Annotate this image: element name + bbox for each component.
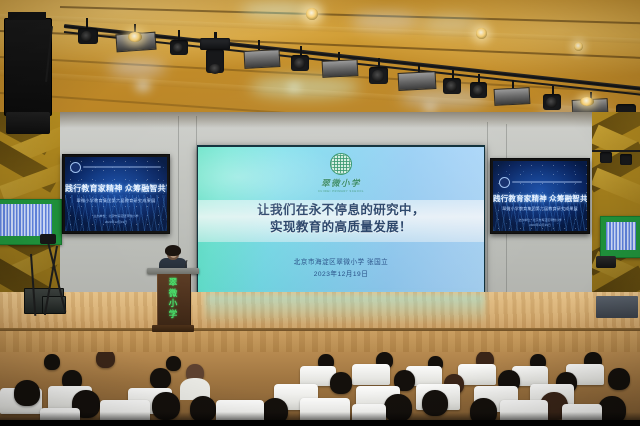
- stage-light-lens: [580, 97, 594, 106]
- slide-subtitle-line-1: 北京市海淀区翠微小学 张国立: [198, 257, 484, 269]
- ceiling-glow: [108, 60, 166, 76]
- audience-seating: [0, 352, 640, 426]
- ceiling-glow: [420, 16, 480, 32]
- wall-light-bar: [592, 150, 640, 152]
- audience-head: [330, 372, 352, 394]
- right-led-subhead: 翠微小学教育集团第六届教育研究成果展: [493, 206, 587, 212]
- slide-title-line-2: 实现教育的高质量发展！: [198, 219, 484, 236]
- audience-head: [44, 354, 60, 370]
- stage-light-barndoor: [244, 49, 281, 69]
- podium-engraved-text: 翠微小学: [151, 277, 195, 320]
- ceiling-downlight: [574, 42, 583, 51]
- ceiling-glow: [250, 76, 360, 98]
- main-projection-screen: 翠微小学 CUIWEI PRIMARY SCHOOL 让我们在永不停息的研究中，…: [197, 145, 485, 297]
- podium-base: [152, 325, 194, 332]
- stage-light-lens: [372, 70, 384, 82]
- ceiling-blue-spot: [424, 104, 436, 111]
- left-led-subhead: 翠微小学教育集团第六届教育研究成果展: [65, 198, 167, 204]
- stage-light-lens: [473, 85, 483, 96]
- hanging-speaker-box: [6, 112, 50, 134]
- audience-head: [166, 356, 181, 371]
- slide-school-logo: 翠微小学 CUIWEI PRIMARY SCHOOL: [198, 153, 484, 193]
- stage-light-lens: [546, 97, 557, 108]
- wall-light-fixture: [600, 152, 612, 163]
- left-led-content: 践行教育家精神 众筹融智共育人 翠微小学教育集团第六届教育研究成果展 主办单位：…: [65, 157, 167, 231]
- stage-light-lens: [173, 43, 183, 53]
- school-emblem-icon: [70, 162, 81, 173]
- right-acoustic-panel: [600, 216, 640, 258]
- audience-head: [96, 352, 115, 368]
- wall-panel-joint: [487, 122, 488, 296]
- stage-light-lens: [128, 32, 142, 42]
- ceiling-downlight: [306, 8, 318, 20]
- slide-logo-text: 翠微小学: [321, 177, 361, 189]
- audience-chair: [352, 364, 390, 385]
- moving-head-lens: [209, 64, 221, 74]
- audience-head: [14, 380, 40, 406]
- stage-light-lens: [294, 58, 305, 69]
- podium: 翠微小学: [151, 268, 195, 334]
- stage-light-barndoor: [398, 71, 437, 91]
- stage-light-lens: [446, 81, 457, 92]
- speaker-rigging: [8, 12, 46, 20]
- hanging-speaker-array: [4, 18, 52, 116]
- right-led-footer-2: 2023年12月19日: [493, 223, 587, 227]
- slide-logo-subtext: CUIWEI PRIMARY SCHOOL: [318, 190, 364, 193]
- right-side-table: [596, 296, 638, 318]
- right-led-footer-1: 主办单位：北京市海淀区翠微小学: [493, 218, 587, 222]
- slide-subtitle: 北京市海淀区翠微小学 张国立 2023年12月19日: [198, 257, 484, 280]
- slide-subtitle-line-2: 2023年12月19日: [198, 269, 484, 281]
- presenter-hair: [165, 245, 181, 256]
- led-decor-line: [512, 181, 582, 183]
- left-led-display: 践行教育家精神 众筹融智共育人 翠微小学教育集团第六届教育研究成果展 主办单位：…: [62, 154, 170, 234]
- left-led-footer-1: 主办单位：北京市海淀区翠微小学: [65, 214, 167, 219]
- audience-head: [150, 368, 171, 389]
- stage-monitor-speaker: [596, 256, 616, 268]
- light-yoke: [258, 40, 260, 50]
- slide-title-line-1: 让我们在永不停息的研究中，: [198, 202, 484, 219]
- wall-upper-shadow: [0, 112, 640, 128]
- audience-head: [608, 368, 630, 390]
- wall-light-fixture: [620, 154, 632, 165]
- stage-light-lens: [81, 31, 92, 42]
- left-led-footer-2: 2023年12月19日: [65, 220, 167, 225]
- school-emblem-icon: [499, 177, 510, 188]
- school-emblem-icon: [330, 153, 352, 175]
- left-led-headline: 践行教育家精神 众筹融智共育人: [65, 183, 167, 194]
- stage-light-barndoor: [494, 87, 531, 106]
- ceiling-downlight: [476, 28, 487, 39]
- stage-floor-reflection: [205, 294, 485, 324]
- image-bottom-border: [0, 420, 640, 426]
- right-led-content: 践行教育家精神 众筹融智共育人 翠微小学教育集团第六届教育研究成果展 主办单位：…: [493, 161, 587, 231]
- right-led-headline: 践行教育家精神 众筹融智共育人: [493, 193, 587, 204]
- stage-light-barndoor: [322, 59, 359, 78]
- ceiling-glow: [350, 12, 420, 30]
- led-decor-line: [83, 166, 161, 168]
- ceiling-blue-spot: [136, 82, 150, 90]
- tripod-head: [40, 234, 56, 244]
- auditorium-photo: 践行教育家精神 众筹融智共育人 翠微小学教育集团第六届教育研究成果展 主办单位：…: [0, 0, 640, 426]
- right-led-display: 践行教育家精神 众筹融智共育人 翠微小学教育集团第六届教育研究成果展 主办单位：…: [490, 158, 590, 234]
- slide-title: 让我们在永不停息的研究中， 实现教育的高质量发展！: [198, 202, 484, 237]
- ceiling-blue-spot: [288, 84, 300, 91]
- projected-slide: 翠微小学 CUIWEI PRIMARY SCHOOL 让我们在永不停息的研究中，…: [198, 147, 484, 295]
